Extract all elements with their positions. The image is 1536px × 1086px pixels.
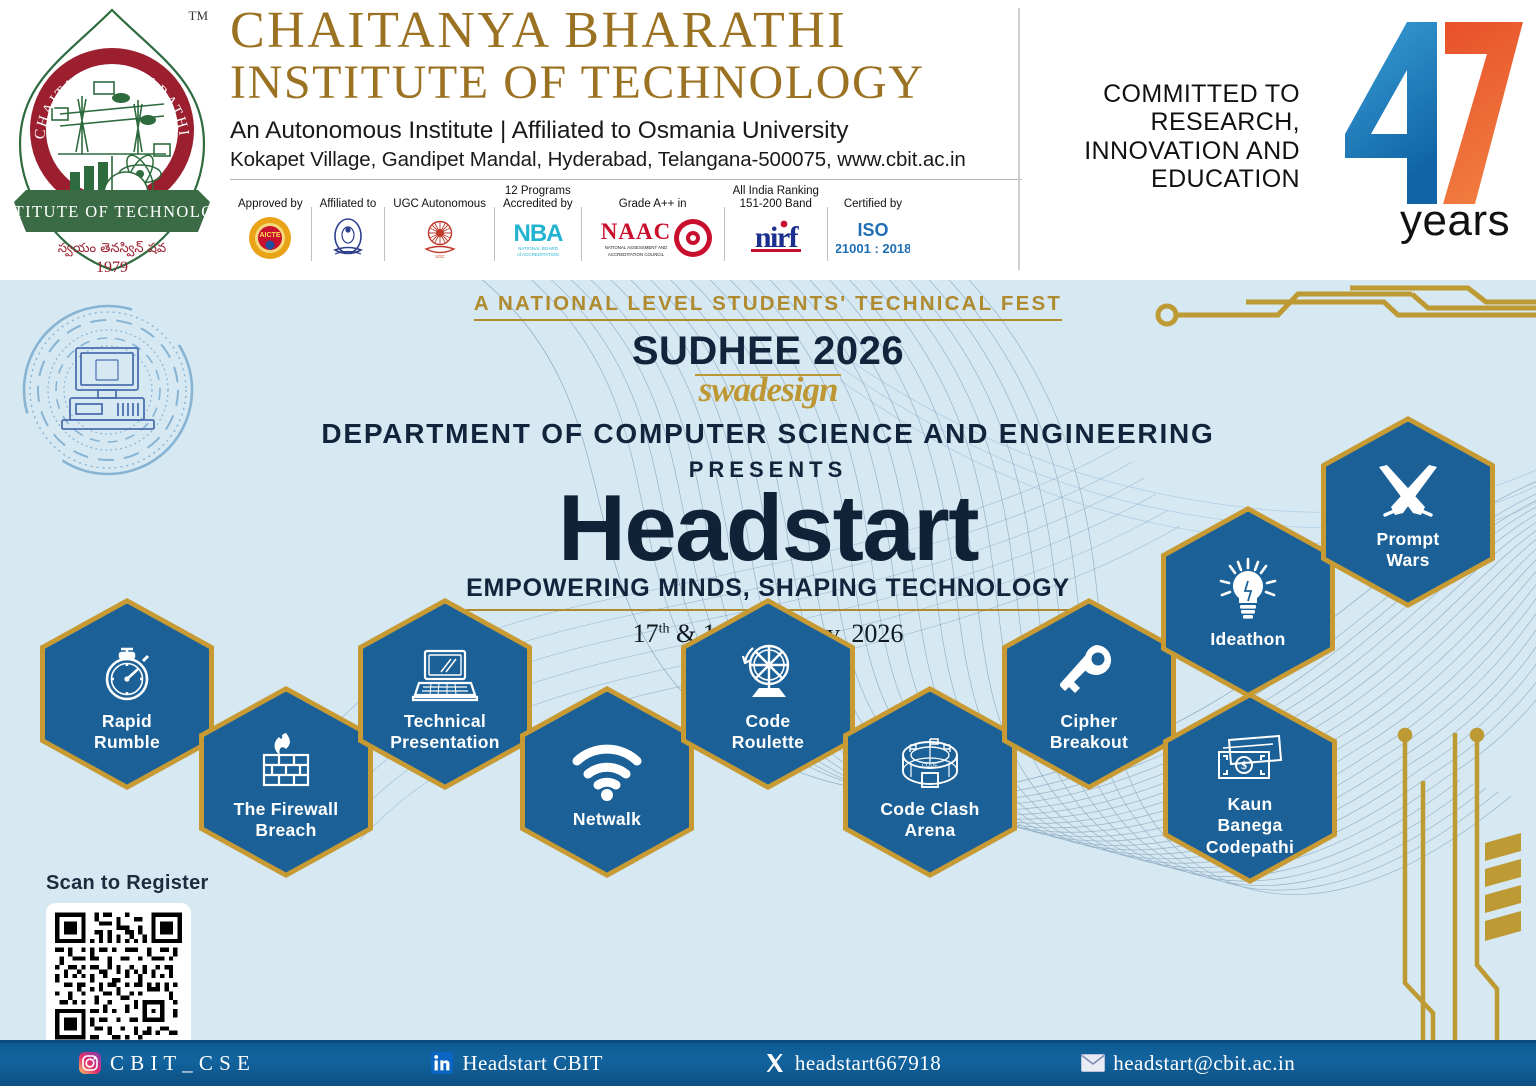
cbit-logo: TM <box>0 0 222 280</box>
divider <box>581 207 582 261</box>
anniversary-years-label: years <box>1400 196 1510 246</box>
svg-text:21001 : 2018: 21001 : 2018 <box>836 241 910 256</box>
institute-name-line1: CHAITANYA BHARATHI <box>230 4 1022 57</box>
circuit-trace-right-decoration <box>1385 725 1535 1045</box>
roulette-wheel-icon <box>737 641 799 703</box>
svg-text:$: $ <box>1241 758 1247 772</box>
divider <box>384 207 385 261</box>
accreditation-nirf: All India Ranking 151-200 Band nirf <box>727 185 825 261</box>
stadium-icon: CODE <box>895 729 965 791</box>
iso-logo: ISO 21001 : 2018 <box>836 215 910 261</box>
aicte-logo: AICTE <box>248 215 292 261</box>
accreditation-naac: Grade A++ in NAAC NATIONAL ASSESSMENT AN… <box>584 198 722 261</box>
email-icon <box>1081 1051 1105 1075</box>
swadesign-logotype: swadesign <box>699 370 838 410</box>
accreditation-caption: Affiliated to <box>320 198 377 211</box>
institute-name-line2: INSTITUTE OF TECHNOLOGY <box>230 57 1022 109</box>
svg-text:NAAC: NAAC <box>600 219 670 244</box>
svg-text:INSTITUTE OF TECHNOLOGY: INSTITUTE OF TECHNOLOGY <box>8 202 216 221</box>
linkedin-icon <box>430 1051 454 1075</box>
divider <box>494 207 495 261</box>
scan-to-register-block: Scan to Register <box>46 872 209 1049</box>
institute-affiliation: An Autonomous Institute | Affiliated to … <box>230 117 1022 145</box>
accreditation-caption: 12 Programs Accredited by <box>503 185 573 211</box>
svg-text:NBA: NBA <box>513 220 563 247</box>
event-label: Ideathon <box>1210 629 1285 650</box>
svg-text:NATIONAL ASSESSMENT AND: NATIONAL ASSESSMENT AND <box>604 245 667 250</box>
money-icon: $ <box>1215 724 1285 786</box>
svg-text:1979: 1979 <box>96 259 128 276</box>
accreditation-nba: 12 Programs Accredited by NBA NATIONAL B… <box>497 185 579 261</box>
footer-label: Headstart CBIT <box>462 1051 603 1076</box>
accreditation-caption: UGC Autonomous <box>393 198 486 211</box>
event-label: The Firewall Breach <box>234 799 339 842</box>
header-divider <box>230 179 1022 180</box>
naac-logo: NAAC NATIONAL ASSESSMENT AND ACCREDITATI… <box>590 215 716 261</box>
committed-tagline: COMMITTED TO RESEARCH, INNOVATION AND ED… <box>1060 80 1300 193</box>
footer-instagram[interactable]: C B I T _ C S E <box>78 1051 250 1076</box>
footer-x-twitter[interactable]: headstart667918 <box>763 1051 941 1076</box>
footer-linkedin[interactable]: Headstart CBIT <box>430 1051 603 1076</box>
svg-text:of ACCREDITATION: of ACCREDITATION <box>517 252 559 257</box>
event-label: Code Roulette <box>732 711 804 754</box>
event-label: Code Clash Arena <box>880 799 979 842</box>
accreditation-ugc: UGC Autonomous UGC <box>387 198 492 261</box>
firewall-icon <box>255 729 317 791</box>
laptop-icon <box>411 641 479 703</box>
header-vertical-divider <box>1018 8 1020 270</box>
lightbulb-icon <box>1216 559 1280 621</box>
registration-qr-code-icon <box>55 912 182 1040</box>
footer-label: headstart@cbit.ac.in <box>1113 1051 1295 1076</box>
poster-body: A NATIONAL LEVEL STUDENTS' TECHNICAL FES… <box>0 280 1536 1086</box>
nirf-logo: nirf <box>741 215 811 261</box>
divider <box>827 207 828 261</box>
event-label: Prompt Wars <box>1376 529 1439 572</box>
event-label: Rapid Rumble <box>94 711 160 754</box>
social-footer: C B I T _ C S E Headstart CBIT headstart… <box>0 1040 1536 1086</box>
footer-label: C B I T _ C S E <box>110 1051 250 1076</box>
ugc-logo: UGC <box>419 215 461 261</box>
divider <box>724 207 725 261</box>
accreditation-osmania: Affiliated to <box>314 198 383 261</box>
accreditation-row: Approved by AICTE Affiliated to <box>230 185 1022 261</box>
stopwatch-icon <box>99 641 155 703</box>
institute-address: Kokapet Village, Gandipet Mandal, Hydera… <box>230 148 1022 172</box>
crossed-swords-icon <box>1375 459 1441 521</box>
svg-text:UGC: UGC <box>435 254 444 259</box>
event-label: Netwalk <box>573 809 641 830</box>
accreditation-iso: Certified by ISO 21001 : 2018 <box>830 198 916 261</box>
accreditation-caption: Approved by <box>238 198 303 211</box>
divider <box>311 207 312 261</box>
footer-label: headstart667918 <box>795 1051 941 1076</box>
cbit-crest-icon: CHAITANYA BHARATHI INSTITUTE OF TECHNOLO… <box>8 4 216 276</box>
event-label: Kaun Banega Codepathi <box>1206 794 1294 858</box>
svg-text:CODE: CODE <box>922 763 938 769</box>
svg-text:AICTE: AICTE <box>260 232 281 239</box>
fest-banner-line: A NATIONAL LEVEL STUDENTS' TECHNICAL FES… <box>474 292 1062 321</box>
nba-logo: NBA NATIONAL BOARD of ACCREDITATION <box>507 215 569 261</box>
event-label: Technical Presentation <box>390 711 500 754</box>
x-twitter-icon <box>763 1051 787 1075</box>
scan-label: Scan to Register <box>46 872 209 895</box>
date-day1: 17 <box>633 619 659 648</box>
accreditation-caption: Grade A++ in <box>619 198 687 211</box>
svg-text:ACCREDITATION COUNCIL: ACCREDITATION COUNCIL <box>608 252 665 257</box>
department-name: DEPARTMENT OF COMPUTER SCIENCE AND ENGIN… <box>0 418 1536 450</box>
footer-email[interactable]: headstart@cbit.ac.in <box>1081 1051 1295 1076</box>
instagram-icon <box>78 1051 102 1075</box>
event-label: Cipher Breakout <box>1050 711 1128 754</box>
institute-name-block: CHAITANYA BHARATHI INSTITUTE OF TECHNOLO… <box>222 0 1030 280</box>
accreditation-caption: All India Ranking 151-200 Band <box>733 185 819 211</box>
fest-name: SUDHEE 2026 <box>0 329 1536 374</box>
institute-header: TM <box>0 0 1536 280</box>
svg-text:స్వయం తెనస్విన్ షవ: స్వయం తెనస్విన్ షవ <box>58 241 166 257</box>
svg-text:NATIONAL BOARD: NATIONAL BOARD <box>518 246 559 251</box>
osmania-university-logo <box>328 215 368 261</box>
accreditation-caption: Certified by <box>844 198 902 211</box>
svg-text:ISO: ISO <box>857 220 888 240</box>
date-ordinal1: th <box>659 621 670 636</box>
qr-code[interactable] <box>46 903 191 1049</box>
accreditation-aicte: Approved by AICTE <box>232 198 309 261</box>
key-icon <box>1060 641 1118 703</box>
wifi-icon <box>571 739 643 801</box>
